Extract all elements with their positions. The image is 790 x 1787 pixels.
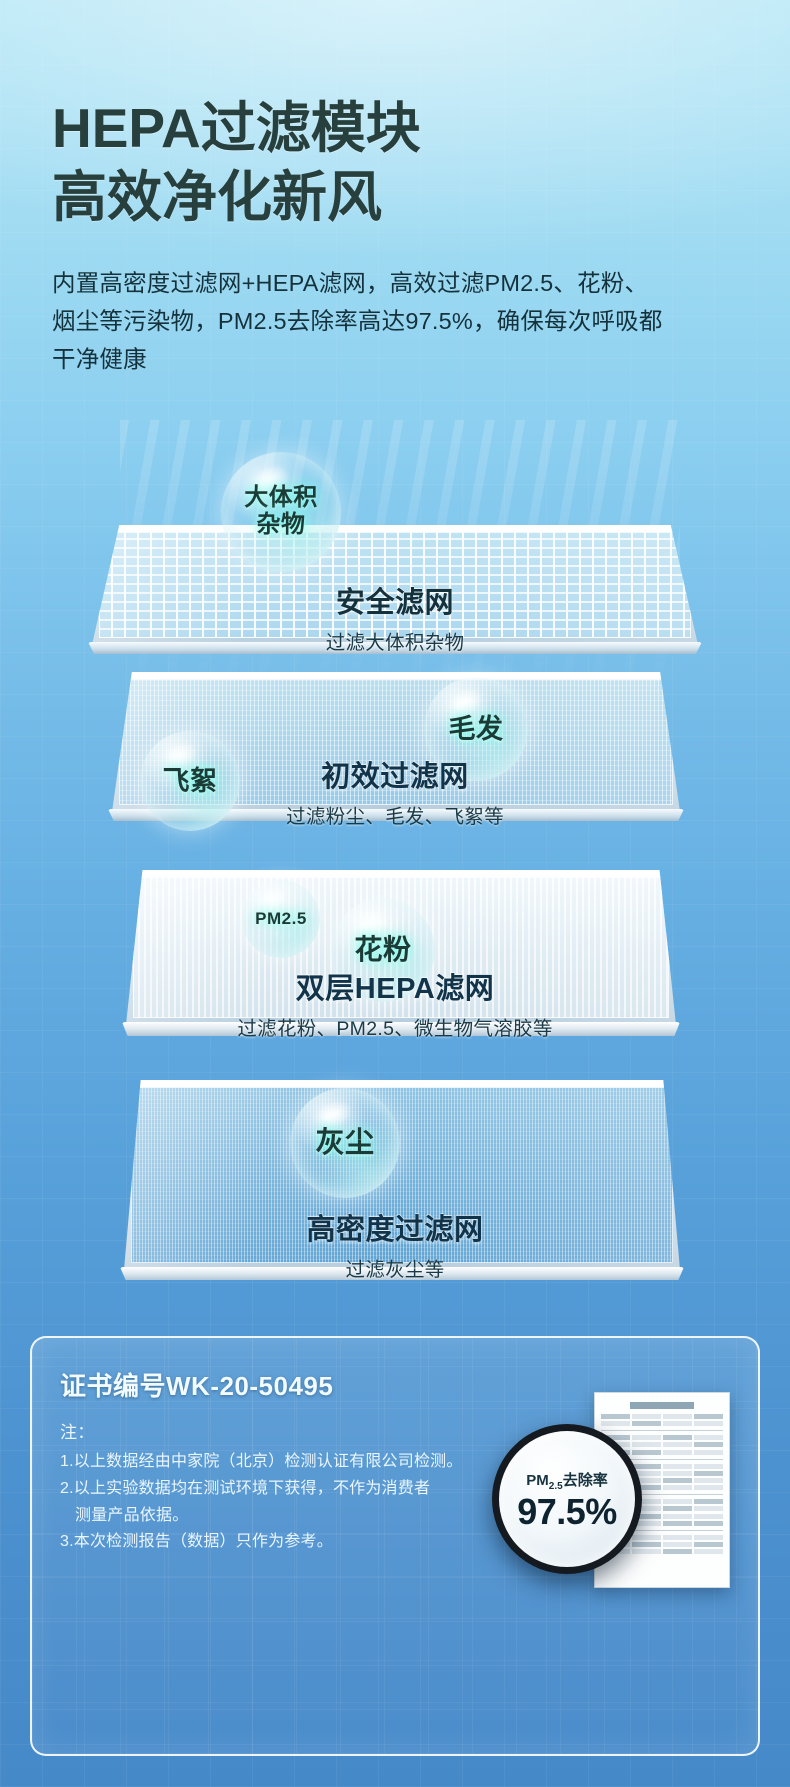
bubble-pm25: PM2.5 <box>242 880 320 958</box>
note-item-1: 1.以上数据经由中家院（北京）检测认证有限公司检测。 <box>60 1450 530 1475</box>
report-title-bar <box>630 1402 693 1409</box>
plate-frame <box>92 525 698 645</box>
bubble-label: 花粉 <box>354 934 411 965</box>
filter-plate-safety <box>92 525 698 645</box>
magnifier-label-sub: 2.5 <box>549 1481 563 1492</box>
certificate-number: 证书编号WK-20-50495 <box>60 1366 333 1403</box>
page-title-line1: HEPA过滤模块 <box>52 96 742 161</box>
note-item-2-cont: 测量产品依据。 <box>60 1504 530 1529</box>
bubble-label: 毛发 <box>449 714 504 744</box>
certificate-panel: 证书编号WK-20-50495 注： 1.以上数据经由中家院（北京）检测认证有限… <box>30 1336 760 1756</box>
filter-plate-edge-hepa <box>122 1022 680 1036</box>
filter-plate-edge-safety <box>88 642 702 654</box>
plate-frame <box>124 1080 680 1270</box>
bubble-hair: 毛发 <box>424 677 528 781</box>
note-item-2: 2.以上实验数据均在测试环境下获得，不作为消费者 <box>60 1477 530 1502</box>
note-item-3: 3.本次检测报告（数据）只作为参考。 <box>60 1530 530 1555</box>
infographic-page: HEPA过滤模块 高效净化新风 内置高密度过滤网+HEPA滤网，高效过滤PM2.… <box>0 0 790 1787</box>
filter-stack: 大体积杂物 安全滤网 过滤大体积杂物 毛发 飞絮 <box>0 420 790 1330</box>
magnifier-label-prefix: PM <box>526 1472 549 1489</box>
bubble-catkin: 飞絮 <box>140 731 240 831</box>
bubble-label: PM2.5 <box>255 909 307 928</box>
bubble-large-debris: 大体积杂物 <box>221 452 341 572</box>
magnifier-value: 97.5% <box>517 1494 617 1530</box>
bubble-label: 灰尘 <box>315 1127 374 1159</box>
bubble-label: 大体积杂物 <box>244 485 318 539</box>
notes-list: 注： 1.以上数据经由中家院（北京）检测认证有限公司检测。 2.以上实验数据均在… <box>60 1418 530 1557</box>
bubble-pollen: 花粉 <box>331 898 435 1002</box>
filter-plate-dense <box>124 1080 680 1270</box>
magnifier-label-suffix: 去除率 <box>563 1472 608 1489</box>
filter-plate-edge-dense <box>120 1267 684 1280</box>
magnifier-pm25-removal: PM2.5去除率 97.5% <box>492 1424 642 1574</box>
page-subtitle: 内置高密度过滤网+HEPA滤网，高效过滤PM2.5、花粉、烟尘等污染物，PM2.… <box>52 264 670 378</box>
page-title-line2: 高效净化新风 <box>52 165 742 230</box>
bubble-label: 飞絮 <box>163 766 218 796</box>
bubble-dust: 灰尘 <box>290 1088 400 1198</box>
header: HEPA过滤模块 高效净化新风 内置高密度过滤网+HEPA滤网，高效过滤PM2.… <box>52 96 742 378</box>
notes-heading: 注： <box>60 1418 530 1443</box>
magnifier-label: PM2.5去除率 <box>526 1469 607 1492</box>
